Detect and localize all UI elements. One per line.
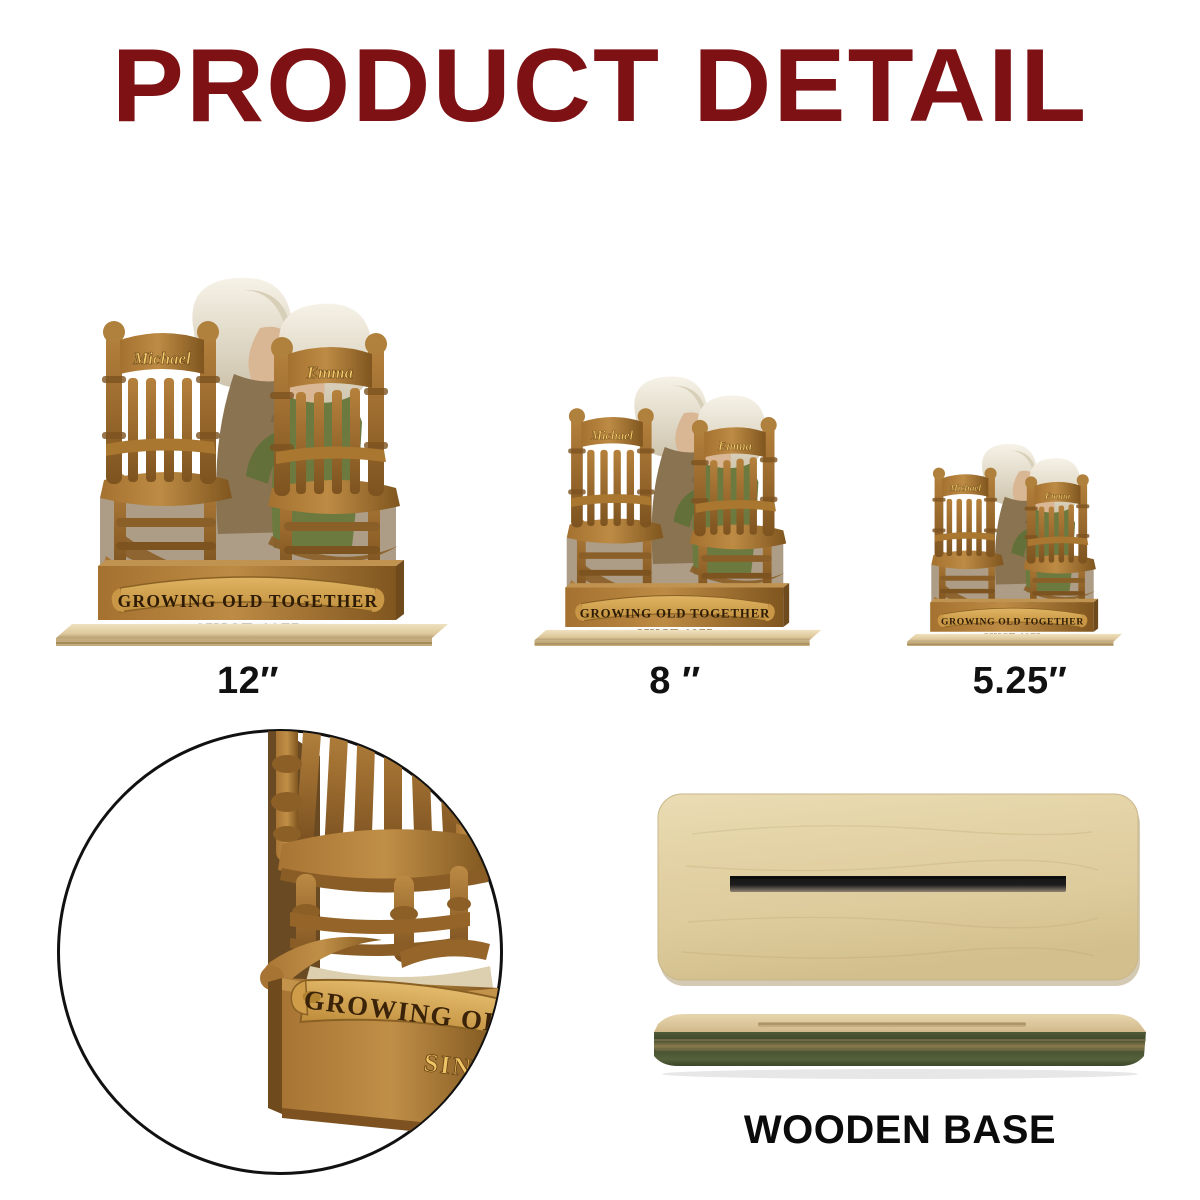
name-left-text: Michael xyxy=(949,484,982,494)
page-title: PRODUCT DETAIL xyxy=(0,34,1200,138)
product-figure-525: Michael xyxy=(885,421,1155,646)
banner-text: GROWING OLD TOGETHER xyxy=(580,606,771,620)
zoom-detail-circle xyxy=(57,729,503,1175)
wooden-base-plate xyxy=(535,630,822,646)
size-comparison-row: Michael xyxy=(0,200,1200,700)
product-size-option-525[interactable]: Michael xyxy=(885,421,1155,700)
product-figure-12: Michael xyxy=(28,236,468,646)
rocking-chair-couple-art: Michael xyxy=(885,421,1140,646)
product-detail-page: PRODUCT DETAIL xyxy=(0,0,1200,1200)
product-figure-8: Michael xyxy=(505,346,845,646)
wooden-base-caption: WOODEN BASE xyxy=(652,1108,1148,1153)
rocking-chair-couple-art: Michael xyxy=(28,236,468,646)
wooden-base-plate xyxy=(907,634,1122,646)
wooden-base-plate xyxy=(56,624,448,646)
product-size-option-12[interactable]: Michael xyxy=(28,236,468,700)
wooden-base-top-view xyxy=(652,782,1148,994)
size-label-8: 8 ″ xyxy=(505,662,845,700)
name-right-text: Emma xyxy=(1044,492,1071,502)
name-left-text: Michael xyxy=(132,349,191,368)
name-left-text: Michael xyxy=(590,429,634,443)
size-label-525: 5.25″ xyxy=(885,662,1155,700)
name-right-text: Emma xyxy=(306,363,354,382)
banner-text: GROWING OLD TOGETHER xyxy=(941,617,1084,628)
rocking-chair-couple-art: Michael xyxy=(505,346,845,646)
base-side-plywood-edge xyxy=(654,1032,1146,1066)
product-size-option-8[interactable]: Michael xyxy=(505,346,845,700)
size-label-12: 12″ xyxy=(28,662,468,700)
name-right-text: Emma xyxy=(717,439,752,453)
banner-text: GROWING OLD TOGETHER xyxy=(118,591,379,611)
wooden-base-side-view xyxy=(652,1010,1148,1080)
